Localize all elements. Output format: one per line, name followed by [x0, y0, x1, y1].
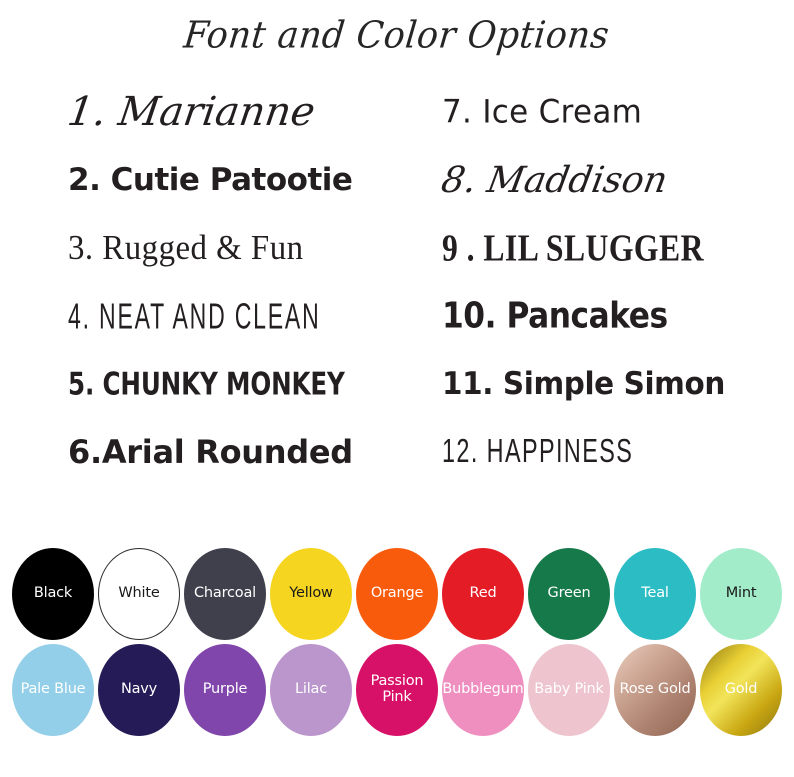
- color-swatch-label: Passion Pink: [371, 674, 424, 705]
- color-swatch-mint[interactable]: Mint: [700, 548, 782, 640]
- color-options-section: BlackWhiteCharcoalYellowOrangeRedGreenTe…: [0, 548, 794, 740]
- color-swatch-passion-pink[interactable]: Passion Pink: [356, 644, 438, 736]
- font-option-7[interactable]: 7. Ice Cream: [442, 77, 794, 148]
- font-option-6[interactable]: 6.Arial Rounded: [68, 418, 420, 486]
- color-swatch-label: Red: [470, 586, 497, 602]
- font-option-3[interactable]: 3. Rugged & Fun: [68, 214, 399, 282]
- color-swatch-label: White: [118, 586, 159, 602]
- color-swatch-label: Teal: [641, 586, 668, 602]
- color-swatch-label: Rose Gold: [620, 682, 691, 698]
- color-swatch-label: Black: [34, 586, 72, 602]
- color-swatch-label: Yellow: [289, 586, 332, 602]
- color-swatch-lilac[interactable]: Lilac: [270, 644, 352, 736]
- page-title: Font and Color Options: [182, 15, 611, 57]
- font-option-2[interactable]: 2. Cutie Patootie: [68, 146, 420, 214]
- color-swatch-label: Navy: [121, 682, 157, 698]
- font-option-11[interactable]: 11. Simple Simon: [442, 350, 776, 418]
- color-swatch-red[interactable]: Red: [442, 548, 524, 640]
- font-list-left-column: 1. Marianne 2. Cutie Patootie 3. Rugged …: [0, 78, 420, 486]
- color-swatch-navy[interactable]: Navy: [98, 644, 180, 736]
- font-and-color-options-page: { "header": { "title": "Font and Color O…: [0, 0, 794, 777]
- font-option-5[interactable]: 5. CHUNKY MONKEY: [68, 348, 357, 419]
- color-swatch-yellow[interactable]: Yellow: [270, 548, 352, 640]
- color-swatch-orange[interactable]: Orange: [356, 548, 438, 640]
- color-swatch-label: Orange: [371, 586, 423, 602]
- color-swatch-green[interactable]: Green: [528, 548, 610, 640]
- color-swatch-charcoal[interactable]: Charcoal: [184, 548, 266, 640]
- color-swatch-baby-pink[interactable]: Baby Pink: [528, 644, 610, 736]
- font-option-4[interactable]: 4. NEAT AND CLEAN: [68, 278, 321, 354]
- color-swatch-label: Baby Pink: [534, 682, 603, 698]
- font-option-9[interactable]: 9 . LIL SLUGGER: [442, 212, 752, 284]
- color-swatch-label: Lilac: [295, 682, 327, 698]
- color-swatch-white[interactable]: White: [98, 548, 180, 640]
- color-swatch-black[interactable]: Black: [12, 548, 94, 640]
- color-swatch-label: Green: [548, 586, 591, 602]
- color-swatch-label: Purple: [203, 682, 248, 698]
- color-swatch-purple[interactable]: Purple: [184, 644, 266, 736]
- color-swatch-row-2: Pale BlueNavyPurpleLilacPassion PinkBubb…: [0, 644, 794, 736]
- font-option-1[interactable]: 1. Marianne: [63, 78, 425, 146]
- color-swatch-rose-gold[interactable]: Rose Gold: [614, 644, 696, 736]
- color-swatch-label: Pale Blue: [21, 682, 86, 698]
- font-option-10[interactable]: 10. Pancakes: [442, 281, 766, 352]
- color-swatch-row-1: BlackWhiteCharcoalYellowOrangeRedGreenTe…: [0, 548, 794, 640]
- font-option-8[interactable]: 8. Maddison: [436, 146, 794, 214]
- color-swatch-label: Gold: [725, 682, 758, 698]
- color-swatch-teal[interactable]: Teal: [614, 548, 696, 640]
- color-swatch-label: Charcoal: [194, 586, 256, 602]
- font-option-12[interactable]: 12. HAPPINESS: [442, 415, 717, 490]
- color-swatch-gold[interactable]: Gold: [700, 644, 782, 736]
- color-swatch-bubblegum[interactable]: Bubblegum: [442, 644, 524, 736]
- font-options-section: 1. Marianne 2. Cutie Patootie 3. Rugged …: [0, 56, 794, 486]
- page-title-wrap: Font and Color Options: [0, 0, 794, 56]
- color-swatch-label: Mint: [726, 586, 757, 602]
- font-list-right-column: 7. Ice Cream 8. Maddison 9 . LIL SLUGGER…: [420, 78, 794, 486]
- color-swatch-pale-blue[interactable]: Pale Blue: [12, 644, 94, 736]
- color-swatch-label: Bubblegum: [442, 682, 523, 698]
